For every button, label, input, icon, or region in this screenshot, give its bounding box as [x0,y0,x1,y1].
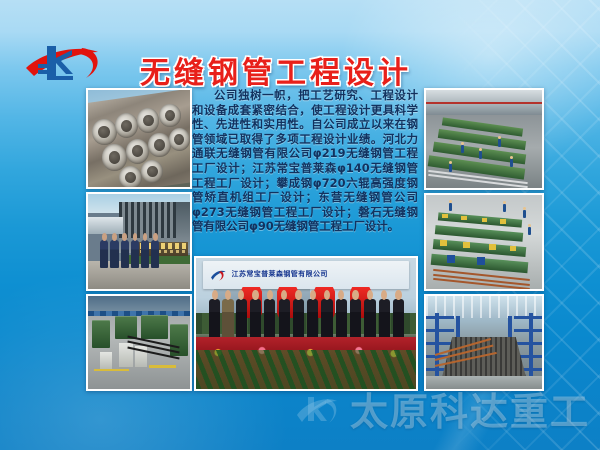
kd-watermark-logo [296,389,342,429]
poster-canvas: 无缝钢管工程设计 公司独树一帜，把工艺研究、工程设计和设备成套紧密结合，使工程设… [0,0,600,450]
ceremony-banner-company: 江苏常宝普莱森钢管有限公司 [232,266,402,282]
photo-rolling-mill-line [86,294,192,391]
description-paragraph: 公司独树一帜，把工艺研究、工程设计和设备成套紧密结合，使工程设计更具科学性、先进… [192,88,418,234]
ceremony-banner: 江苏常宝普莱森钢管有限公司 [203,261,410,290]
photo-cooling-bed-hall [424,294,544,391]
page-title: 无缝钢管工程设计 [140,48,412,92]
changbao-logo [209,267,228,283]
poster-header: 无缝钢管工程设计 [0,0,600,86]
photo-opening-ceremony: 江苏常宝普莱森钢管有限公司 [194,256,418,391]
photo-factory-entrance-group [86,192,192,291]
kd-company-logo [24,34,108,86]
photo-roller-tables [424,193,544,291]
photo-assembly-workshop [424,88,544,190]
photo-steel-pipe-stack [86,88,192,189]
